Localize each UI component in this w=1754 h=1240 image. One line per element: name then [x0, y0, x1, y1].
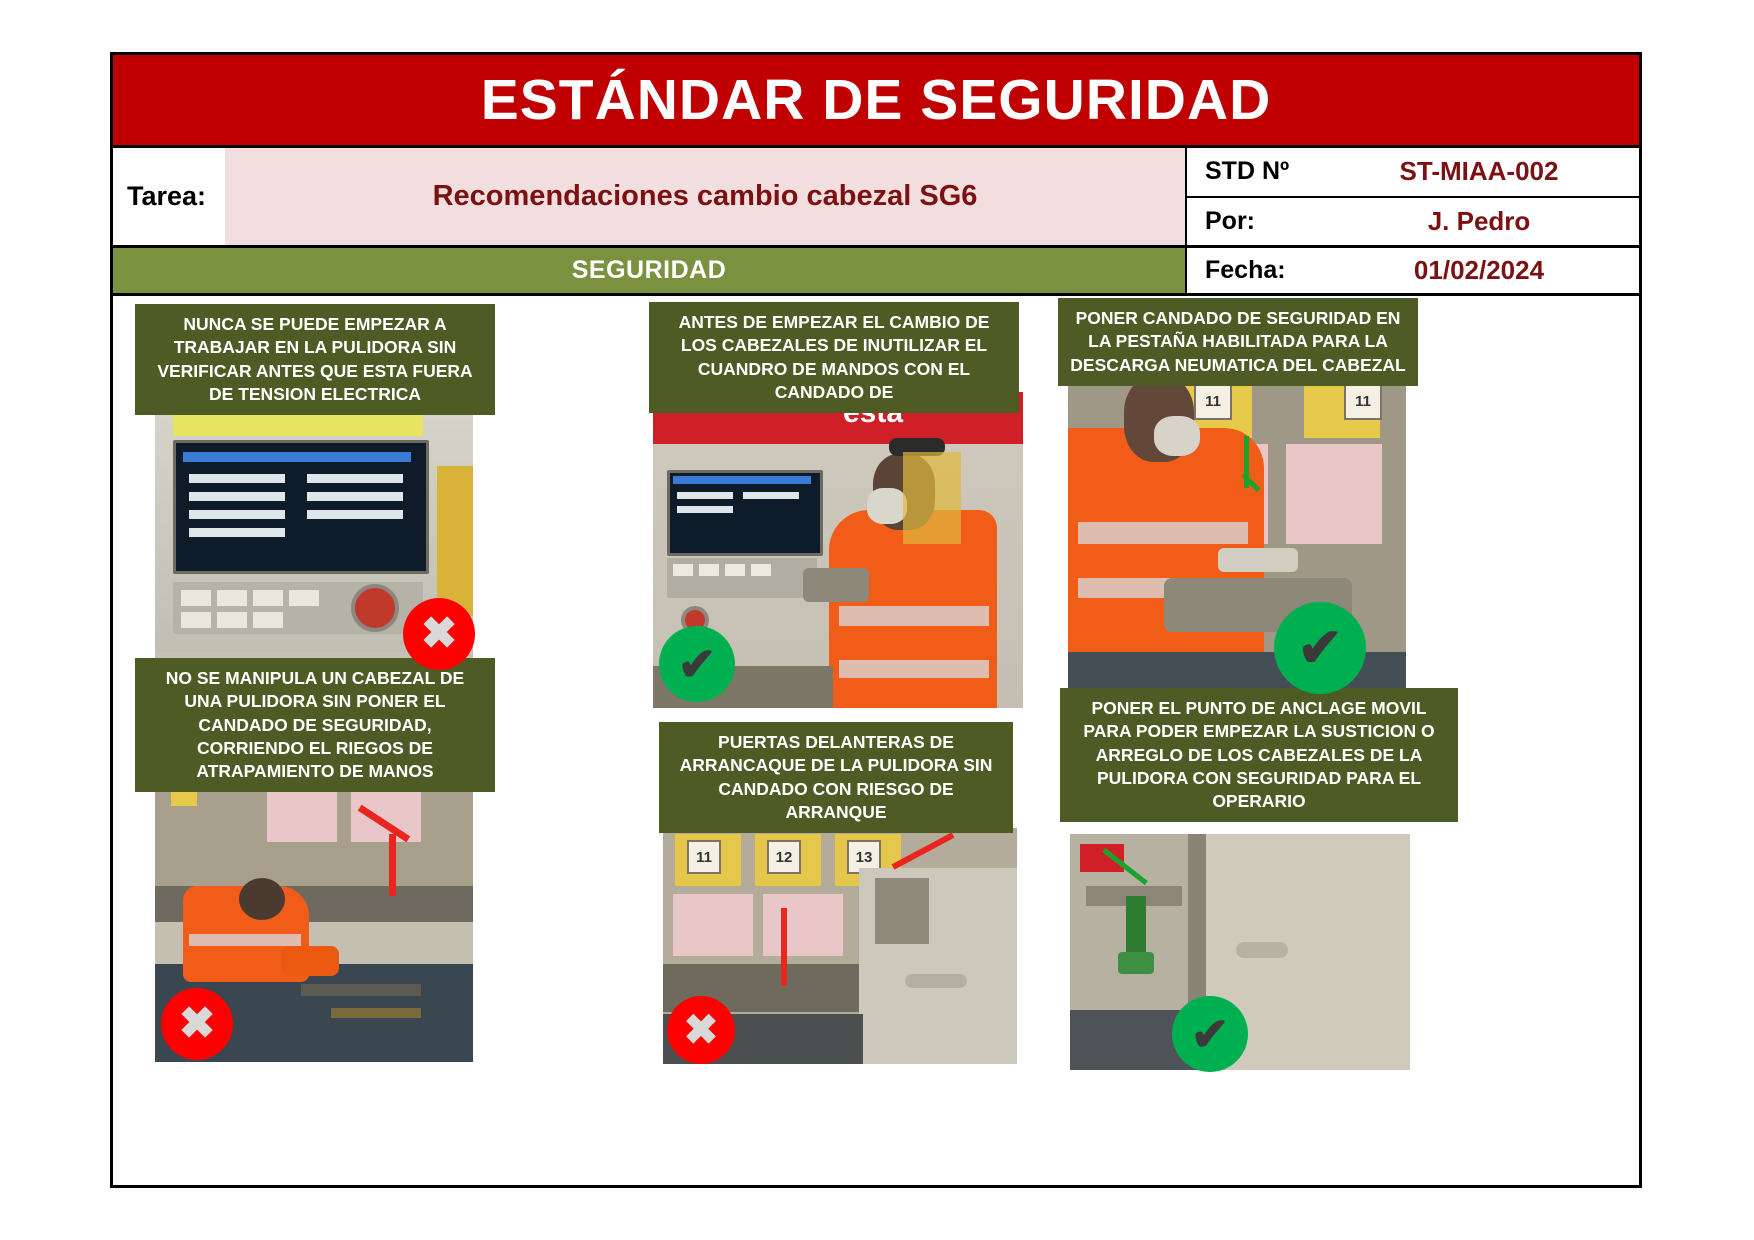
page-title: ESTÁNDAR DE SEGURIDAD [481, 72, 1272, 129]
column-1: NUNCA SE PUEDE EMPEZAR A TRABAJAR EN LA … [113, 296, 613, 1186]
caption-5: PONER CANDADO DE SEGURIDAD EN LA PESTAÑA… [1058, 298, 1418, 386]
author-row: Por: J. Pedro [1187, 198, 1639, 246]
std-label: STD Nº [1187, 157, 1337, 186]
task-label: Tarea: [113, 148, 225, 245]
section-band-row: SEGURIDAD Fecha: 01/02/2024 [113, 248, 1639, 296]
status-badge-x-4: ✖ [667, 996, 735, 1064]
std-row: STD Nº ST-MIAA-002 [1187, 148, 1639, 198]
date-value: 01/02/2024 [1337, 255, 1639, 286]
author-label: Por: [1187, 207, 1337, 236]
safety-standard-sheet: ESTÁNDAR DE SEGURIDAD Tarea: Recomendaci… [110, 52, 1642, 1188]
date-row: Fecha: 01/02/2024 [1187, 248, 1639, 293]
date-label: Fecha: [1187, 256, 1337, 285]
caption-6: PONER EL PUNTO DE ANCLAGE MOVIL PARA POD… [1060, 688, 1458, 822]
chip-11-b: 11 [1194, 382, 1232, 420]
metadata-table: Tarea: Recomendaciones cambio cabezal SG… [113, 148, 1639, 248]
column-3: 11 11 PONER CANDADO DE SEGURIDAD EN LA P… [958, 296, 1518, 1186]
std-value: ST-MIAA-002 [1337, 156, 1639, 187]
author-value: J. Pedro [1337, 206, 1639, 237]
chip-11: 11 [687, 840, 721, 874]
section-band-label: SEGURIDAD [572, 256, 727, 285]
status-badge-check-3: ✔ [659, 626, 735, 702]
task-value: Recomendaciones cambio cabezal SG6 [225, 148, 1185, 245]
document-banner: ESTÁNDAR DE SEGURIDAD [113, 55, 1639, 148]
column-2: esta [541, 296, 1041, 1186]
chip-12: 12 [767, 840, 801, 874]
caption-2: NO SE MANIPULA UN CABEZAL DE UNA PULIDOR… [135, 658, 495, 792]
caption-1: NUNCA SE PUEDE EMPEZAR A TRABAJAR EN LA … [135, 304, 495, 415]
content-area: NUNCA SE PUEDE EMPEZAR A TRABAJAR EN LA … [113, 296, 1639, 1186]
status-badge-check-6: ✔ [1172, 996, 1248, 1072]
chip-11-c: 11 [1344, 382, 1382, 420]
status-badge-check-5: ✔ [1274, 602, 1366, 694]
metadata-right: STD Nº ST-MIAA-002 Por: J. Pedro [1187, 148, 1639, 245]
status-badge-x-2: ✖ [161, 988, 233, 1060]
caption-3: ANTES DE EMPEZAR EL CAMBIO DE LOS CABEZA… [649, 302, 1019, 413]
task-cell: Tarea: Recomendaciones cambio cabezal SG… [113, 148, 1187, 245]
section-band: SEGURIDAD [113, 248, 1187, 293]
status-badge-x-1: ✖ [403, 598, 475, 670]
caption-4: PUERTAS DELANTERAS DE ARRANCAQUE DE LA P… [659, 722, 1013, 833]
